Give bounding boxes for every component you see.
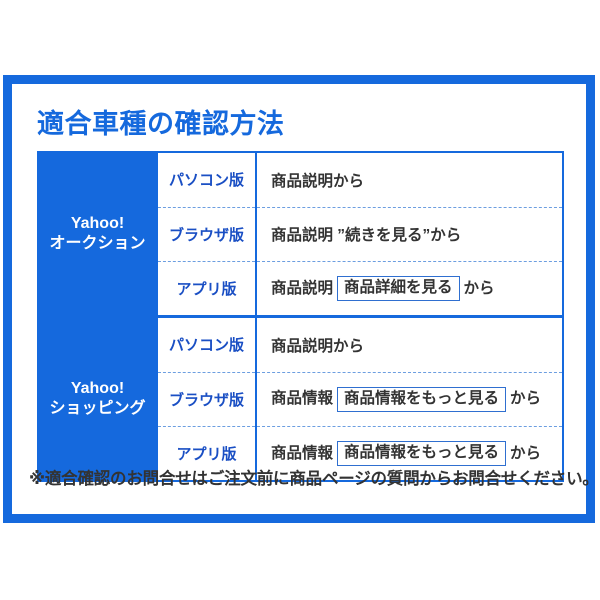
description-text-prefix: 商品情報 (271, 390, 333, 407)
table-row: Yahoo! ショッピング パソコン版 商品説明から (39, 318, 562, 372)
description-cell: 商品説明から (256, 153, 562, 207)
description-cell: 商品情報商品情報をもっと見るから (256, 372, 562, 426)
device-label-app: アプリ版 (157, 261, 256, 315)
description-text-suffix: から (510, 445, 541, 462)
footer-note: ※適合確認のお問合せはご注文前に商品ページの質問からお問合せください。 (29, 465, 599, 489)
description-text-suffix: から (464, 280, 495, 297)
info-panel: 適合車種の確認方法 Yahoo! オークション パソコン版 商品説明から (3, 75, 595, 523)
table-row: Yahoo! オークション パソコン版 商品説明から (39, 153, 562, 207)
description-cell: 商品説明から (256, 318, 562, 372)
compatibility-table: Yahoo! オークション パソコン版 商品説明から ブラウザ版 商品説明 ”続… (37, 151, 564, 482)
brand-line-1: Yahoo! (39, 379, 156, 399)
brand-cell-shopping: Yahoo! ショッピング (39, 318, 157, 480)
description-text: 商品説明から (271, 338, 364, 355)
description-text: 商品説明 ”続きを見る”から (271, 227, 461, 244)
description-text-suffix: から (510, 390, 541, 407)
more-info-button[interactable]: 商品情報をもっと見る (337, 441, 506, 465)
description-text-prefix: 商品情報 (271, 445, 333, 462)
description-text: 商品説明から (271, 173, 364, 190)
device-label-browser: ブラウザ版 (157, 372, 256, 426)
brand-line-1: Yahoo! (39, 214, 156, 234)
description-cell: 商品説明商品詳細を見るから (256, 261, 562, 315)
page-title: 適合車種の確認方法 (37, 102, 285, 141)
device-label-pc: パソコン版 (157, 153, 256, 207)
info-panel-inner: 適合車種の確認方法 Yahoo! オークション パソコン版 商品説明から (12, 84, 586, 514)
description-cell: 商品説明 ”続きを見る”から (256, 207, 562, 261)
brand-line-2: ショッピング (39, 399, 156, 419)
more-info-button[interactable]: 商品情報をもっと見る (337, 387, 506, 411)
device-label-pc: パソコン版 (157, 318, 256, 372)
description-text-prefix: 商品説明 (271, 280, 333, 297)
item-detail-button[interactable]: 商品詳細を見る (337, 276, 460, 300)
brand-cell-auction: Yahoo! オークション (39, 153, 157, 315)
device-label-browser: ブラウザ版 (157, 207, 256, 261)
brand-line-2: オークション (39, 234, 156, 254)
